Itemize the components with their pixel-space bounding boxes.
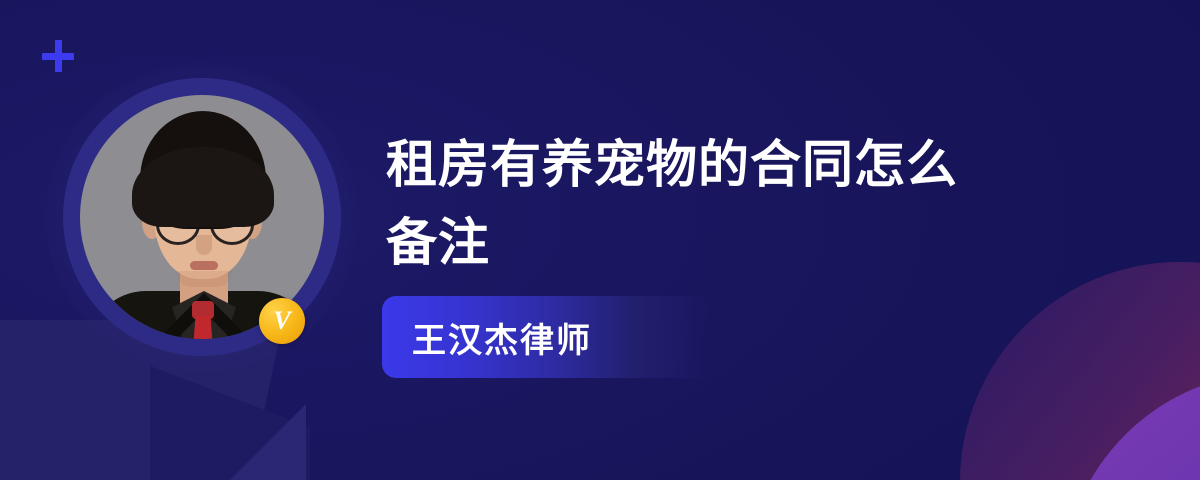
avatar[interactable]: V (63, 78, 341, 356)
decorative-circle-crimson (960, 262, 1200, 480)
portrait-chin (176, 271, 232, 287)
portrait-nose (196, 235, 212, 255)
plus-icon (42, 40, 74, 72)
lawyer-name-label: 王汉杰律师 (412, 313, 592, 362)
portrait-tie (192, 316, 214, 339)
verified-badge-label: V (273, 308, 290, 334)
decorative-circle-violet (1062, 372, 1200, 480)
decorative-polygon-mid (150, 366, 310, 480)
lawyer-name-badge[interactable]: 王汉杰律师 (382, 296, 712, 378)
verified-badge-icon: V (259, 298, 305, 344)
banner-content: 租房有养宠物的合同怎么备注 王汉杰律师 (386, 126, 1086, 282)
portrait-mouth (190, 261, 218, 270)
decorative-polygon-triangle (186, 404, 306, 480)
page-title: 租房有养宠物的合同怎么备注 (386, 126, 1006, 282)
plus-icon-bar-vertical (55, 40, 62, 72)
lawyer-question-banner: V 租房有养宠物的合同怎么备注 王汉杰律师 (0, 0, 1200, 480)
